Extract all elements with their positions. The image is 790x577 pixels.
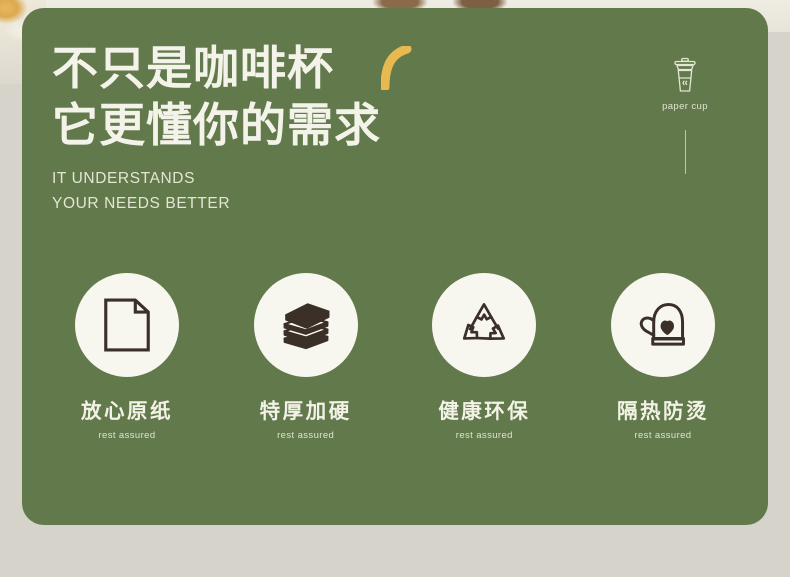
green-feature-card: 不只是咖啡杯 它更懂你的需求 IT UNDERSTANDS YOUR NEEDS… [22,8,768,525]
feature-subtitle: rest assured [52,430,202,441]
document-page-icon [103,297,151,353]
promo-banner-page: 不只是咖啡杯 它更懂你的需求 IT UNDERSTANDS YOUR NEEDS… [0,0,790,577]
feature-title: 特厚加硬 [231,394,381,424]
feature-item[interactable]: 隔热防烫 rest assured [588,273,738,441]
recycle-icon [457,299,511,351]
oven-mitt-heart-icon [635,298,691,352]
feature-icon-circle [75,273,179,377]
feature-item[interactable]: 健康环保 rest assured [409,273,559,441]
vertical-divider-rule [685,130,686,174]
feature-subtitle: rest assured [231,430,381,441]
subheadline-line-2: YOUR NEEDS BETTER [52,191,230,216]
paper-cup-label: paper cup [642,101,728,112]
stacked-layers-icon [277,299,335,351]
feature-icon-circle [611,273,715,377]
paper-cup-badge: paper cup [642,56,728,112]
feature-icon-circle [254,273,358,377]
headline-block: 不只是咖啡杯 它更懂你的需求 [52,40,472,154]
gold-arc-swoosh-icon [381,46,413,90]
subheadline-line-1: IT UNDERSTANDS [52,166,230,191]
feature-title: 隔热防烫 [588,394,738,424]
feature-list: 放心原纸 rest assured [52,273,738,441]
feature-icon-circle [432,273,536,377]
headline-line-2: 它更懂你的需求 [52,97,472,154]
feature-title: 放心原纸 [52,394,202,424]
feature-item[interactable]: 特厚加硬 rest assured [231,273,381,441]
feature-title: 健康环保 [409,394,559,424]
headline-row-1: 不只是咖啡杯 [52,40,472,97]
paper-cup-icon [668,56,702,96]
subheadline-block: IT UNDERSTANDS YOUR NEEDS BETTER [52,166,230,216]
feature-item[interactable]: 放心原纸 rest assured [52,273,202,441]
feature-subtitle: rest assured [409,430,559,441]
feature-subtitle: rest assured [588,430,738,441]
